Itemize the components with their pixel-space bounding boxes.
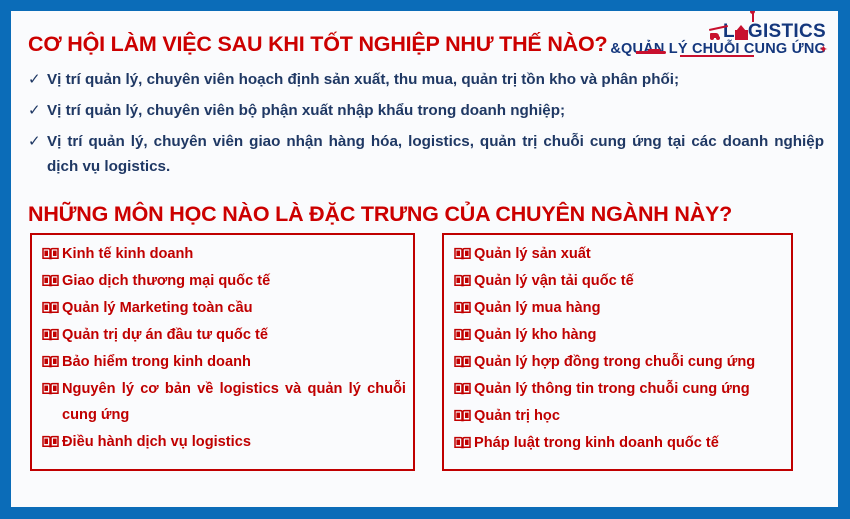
list-item-label: Quản lý hợp đồng trong chuỗi cung ứng [474, 349, 784, 375]
list-item: Quản trị học [453, 403, 784, 429]
list-item: Pháp luật trong kinh doanh quốc tế [453, 430, 784, 456]
list-item: Quản lý Marketing toàn cầu [41, 295, 406, 321]
list-item-label: Giao dịch thương mại quốc tế [62, 268, 406, 294]
list-item-label: Nguyên lý cơ bản về logistics và quản lý… [62, 376, 406, 428]
slide-canvas: L GISTICS &QUẢN LÝ CHUỖI CUNG ỨNG ✦ CƠ H… [11, 11, 838, 507]
crane-icon [708, 26, 730, 38]
book-icon [453, 295, 474, 321]
logo-subtitle-row: &QUẢN LÝ CHUỖI CUNG ỨNG ✦ [630, 41, 826, 58]
book-icon [453, 376, 474, 402]
list-item: Quản lý hợp đồng trong chuỗi cung ứng [453, 349, 784, 375]
job-opportunities-list: ✓ Vị trí quản lý, chuyên viên hoạch định… [28, 67, 824, 185]
list-item-label: Quản trị học [474, 403, 784, 429]
list-item: Quản lý mua hàng [453, 295, 784, 321]
check-icon: ✓ [28, 98, 47, 123]
logistics-logo: L GISTICS &QUẢN LÝ CHUỖI CUNG ỨNG ✦ [630, 17, 826, 59]
logo-wordmark: L GISTICS [723, 22, 826, 41]
check-icon: ✓ [28, 129, 47, 154]
list-item: Quản trị dự án đầu tư quốc tế [41, 322, 406, 348]
list-item-label: Điều hành dịch vụ logistics [62, 429, 406, 455]
list-item: Giao dịch thương mại quốc tế [41, 268, 406, 294]
book-icon [453, 403, 474, 429]
page-title-jobs: CƠ HỘI LÀM VIỆC SAU KHI TỐT NGHIỆP NHƯ T… [28, 32, 607, 57]
logo-divider-rule [680, 55, 754, 57]
slide-frame: L GISTICS &QUẢN LÝ CHUỖI CUNG ỨNG ✦ CƠ H… [0, 0, 850, 519]
list-item: ✓ Vị trí quản lý, chuyên viên giao nhận … [28, 129, 824, 179]
list-item-label: Quản lý mua hàng [474, 295, 784, 321]
list-item: Quản lý thông tin trong chuỗi cung ứng [453, 376, 784, 402]
list-item-label: Quản lý Marketing toàn cầu [62, 295, 406, 321]
logo-letters-gistics: GISTICS [748, 22, 826, 41]
book-icon [41, 322, 62, 348]
plane-icon [636, 46, 670, 56]
list-item-label: Quản lý thông tin trong chuỗi cung ứng [474, 376, 784, 402]
check-icon: ✓ [28, 67, 47, 92]
list-item: Quản lý sản xuất [453, 241, 784, 267]
list-item: Kinh tế kinh doanh [41, 241, 406, 267]
warehouse-icon [735, 26, 748, 40]
book-icon [41, 268, 62, 294]
list-item-label: Vị trí quản lý, chuyên viên hoạch định s… [47, 67, 824, 92]
list-item: Bảo hiểm trong kinh doanh [41, 349, 406, 375]
flag-dot-icon [750, 11, 755, 14]
book-icon [41, 295, 62, 321]
list-item-label: Quản lý kho hàng [474, 322, 784, 348]
page-title-subjects: NHỮNG MÔN HỌC NÀO LÀ ĐẶC TRƯNG CỦA CHUYÊ… [28, 202, 732, 227]
list-item: Nguyên lý cơ bản về logistics và quản lý… [41, 376, 406, 428]
list-item: ✓ Vị trí quản lý, chuyên viên hoạch định… [28, 67, 824, 92]
book-icon [41, 349, 62, 375]
logo-wordmark-row: L GISTICS [630, 17, 826, 41]
list-item: Quản lý vận tải quốc tế [453, 268, 784, 294]
book-icon [453, 349, 474, 375]
subjects-box-right: Quản lý sản xuất Quản lý vận tải quốc tế… [442, 233, 793, 471]
list-item-label: Kinh tế kinh doanh [62, 241, 406, 267]
list-item-label: Vị trí quản lý, chuyên viên giao nhận hà… [47, 129, 824, 179]
subjects-box-left: Kinh tế kinh doanh Giao dịch thương mại … [30, 233, 415, 471]
book-icon [453, 268, 474, 294]
list-item-label: Pháp luật trong kinh doanh quốc tế [474, 430, 784, 456]
list-item-label: Quản lý sản xuất [474, 241, 784, 267]
list-item-label: Bảo hiểm trong kinh doanh [62, 349, 406, 375]
list-item-label: Quản lý vận tải quốc tế [474, 268, 784, 294]
book-icon [41, 429, 62, 455]
list-item-label: Quản trị dự án đầu tư quốc tế [62, 322, 406, 348]
list-item-label: Vị trí quản lý, chuyên viên bộ phận xuất… [47, 98, 824, 123]
list-item: ✓ Vị trí quản lý, chuyên viên bộ phận xu… [28, 98, 824, 123]
book-icon [41, 376, 62, 402]
list-item: Điều hành dịch vụ logistics [41, 429, 406, 455]
book-icon [41, 241, 62, 267]
book-icon [453, 430, 474, 456]
book-icon [453, 241, 474, 267]
star-icon: ✦ [819, 45, 828, 56]
list-item: Quản lý kho hàng [453, 322, 784, 348]
book-icon [453, 322, 474, 348]
